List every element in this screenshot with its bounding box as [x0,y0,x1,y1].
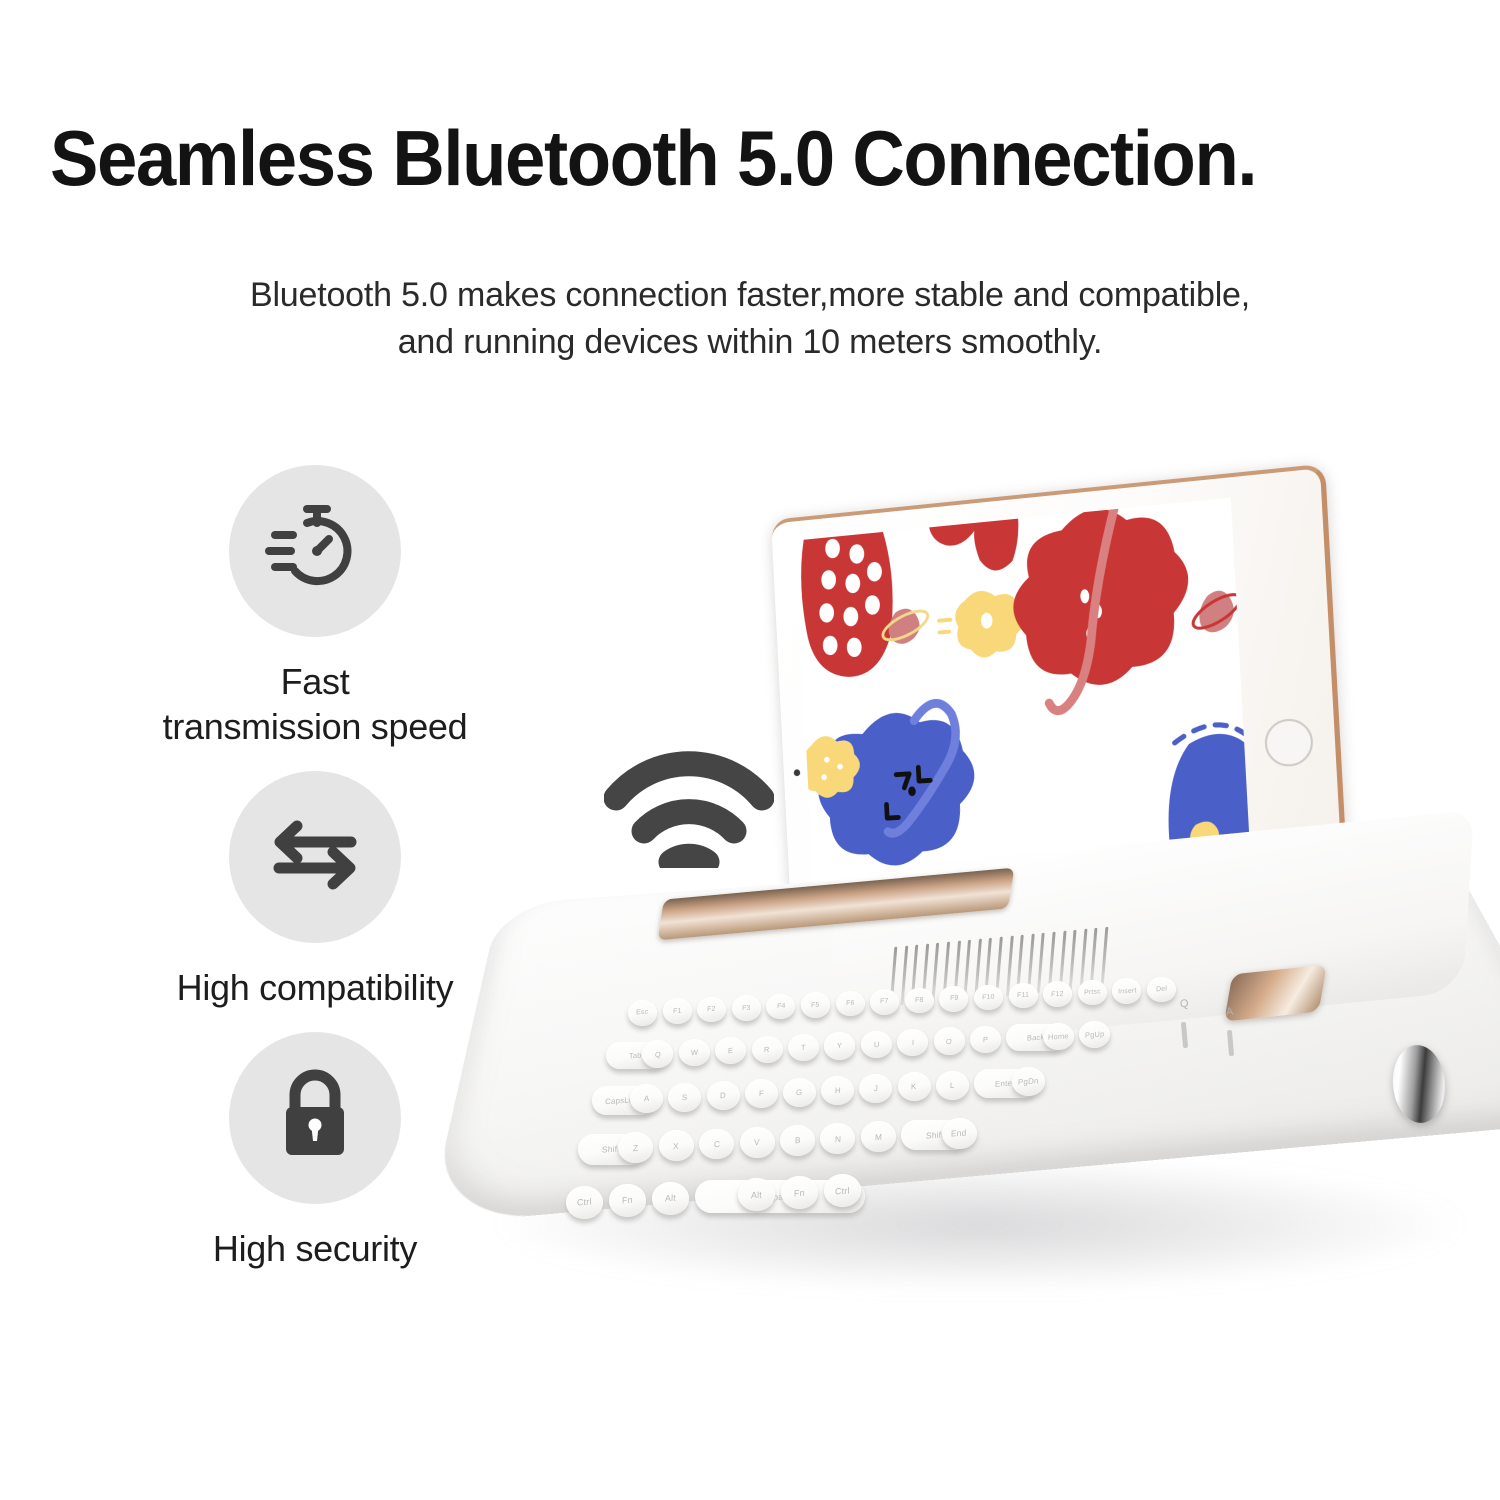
keycap-label: S [682,1092,688,1101]
keycap-alt[interactable]: Alt [652,1182,689,1215]
keycap-i[interactable]: I [897,1029,928,1056]
keycap-u[interactable]: U [861,1031,892,1058]
keycap-l[interactable]: L [936,1071,969,1100]
keycap-label: F9 [950,995,959,1003]
keycap-t[interactable]: T [788,1034,819,1061]
keycap-label: Alt [665,1193,676,1204]
keycap-label: Ctrl [835,1185,850,1196]
keycap-v[interactable]: V [740,1127,775,1158]
keycap-x[interactable]: X [659,1130,694,1161]
keycap-label: Z [633,1142,639,1152]
keycap-label: Alt [751,1189,762,1200]
keycap-label: Esc [636,1009,648,1017]
keycap-label: F10 [982,993,995,1001]
keycap-label: P [983,1035,988,1044]
keycap-label: V [754,1137,760,1147]
keycap-label: E [728,1046,733,1055]
keycap-label: N [835,1133,842,1143]
product-marketing-page: Seamless Bluetooth 5.0 Connection. Bluet… [0,0,1500,1500]
keycap-f1[interactable]: F1 [663,998,692,1024]
keycap-pgup[interactable]: PgUp [1079,1021,1110,1048]
keycap-label: PgUp [1085,1029,1105,1039]
keycap-label: Prtsc [1084,988,1101,996]
keycap-h[interactable]: H [821,1076,854,1105]
keycap-label: Shift [925,1129,943,1140]
keycap-insert[interactable]: Insert [1112,978,1141,1004]
keycap-label: U [873,1040,879,1049]
keycap-f8[interactable]: F8 [905,988,934,1014]
keycap-label: F1 [673,1007,682,1015]
keycap-label: Fn [794,1187,805,1198]
keycap-e[interactable]: E [715,1037,746,1064]
keycap-n[interactable]: N [820,1123,855,1154]
keycap-label: I [911,1038,914,1047]
keycap-fn[interactable]: Fn [781,1176,818,1209]
keycap-label: B [794,1135,800,1145]
keycap-f11[interactable]: F11 [1009,983,1038,1009]
keycap-z[interactable]: Z [618,1132,653,1163]
keycap-pgdn[interactable]: PgDn [1012,1067,1045,1096]
keycap-f9[interactable]: F9 [939,986,968,1012]
keycap-y[interactable]: Y [824,1032,855,1059]
keycap-j[interactable]: J [859,1074,892,1103]
keycap-ctrl[interactable]: Ctrl [566,1186,603,1219]
keycap-f4[interactable]: F4 [766,994,795,1020]
keycap-label: PgDn [1018,1077,1039,1087]
keycap-label: Q [655,1049,661,1058]
keycap-label: Tab [629,1051,642,1061]
keycap-label: D [720,1091,726,1100]
keycap-label: F12 [1051,990,1064,998]
keycap-label: F8 [915,997,924,1005]
keycap-label: F3 [742,1004,751,1012]
keycap-label: A [644,1094,650,1103]
keycap-end[interactable]: End [942,1118,977,1149]
keycap-label: T [801,1043,806,1052]
keycap-label: Del [1156,986,1167,994]
keycap-ctrl[interactable]: Ctrl [824,1174,861,1207]
keycap-k[interactable]: K [898,1072,931,1101]
keycap-f12[interactable]: F12 [1043,981,1072,1007]
keycap-label: F [759,1089,764,1098]
keycap-label: F7 [880,998,889,1006]
keycap-label: X [673,1141,679,1151]
keycap-del[interactable]: Del [1147,977,1176,1003]
keycap-label: G [796,1087,803,1096]
keycap-label: O [946,1036,952,1045]
keycap-f2[interactable]: F2 [697,997,726,1023]
keycap-label: M [875,1132,883,1143]
keycap-label: J [874,1084,878,1093]
keycap-fn[interactable]: Fn [609,1184,646,1217]
keycap-label: F4 [777,1003,786,1011]
keycap-label: Y [837,1041,842,1050]
keycap-label: Insert [1117,987,1136,995]
keycap-alt[interactable]: Alt [738,1178,775,1211]
keycap-label: W [691,1048,699,1058]
keycap-f7[interactable]: F7 [870,989,899,1015]
keycap-label: H [835,1086,841,1095]
keycap-label: End [951,1128,967,1139]
keycap-label: K [911,1082,917,1091]
keycap-label: R [764,1044,770,1053]
keycap-d[interactable]: D [707,1081,740,1110]
keycap-prtsc[interactable]: Prtsc [1078,980,1107,1006]
keycap-f10[interactable]: F10 [974,985,1003,1011]
keycap-esc[interactable]: Esc [628,1000,657,1026]
keycap-label: L [950,1081,955,1090]
keycap-a[interactable]: A [630,1084,663,1113]
keycap-f3[interactable]: F3 [732,995,761,1021]
keycap-w[interactable]: W [679,1039,710,1066]
keycap-label: F5 [811,1001,820,1009]
keycap-b[interactable]: B [780,1125,815,1156]
keycap-label: Ctrl [577,1197,592,1208]
keycap-f6[interactable]: F6 [836,991,865,1017]
keycap-g[interactable]: G [783,1078,816,1107]
keycap-o[interactable]: O [934,1027,965,1054]
keycap-f[interactable]: F [745,1079,778,1108]
keycap-p[interactable]: P [970,1026,1001,1053]
keycap-s[interactable]: S [668,1083,701,1112]
keycap-home[interactable]: Home [1043,1023,1074,1050]
keycap-f5[interactable]: F5 [801,992,830,1018]
keycap-label: F2 [707,1006,716,1014]
keycap-r[interactable]: R [752,1036,783,1063]
keyboard-keys: EscF1F2F3F4F5F6F7F8F9F10F11F12PrtscInser… [0,0,1500,1500]
keycap-q[interactable]: Q [642,1040,673,1067]
keycap-label: C [713,1139,720,1149]
keycap-label: F6 [846,1000,855,1008]
keycap-label: Home [1048,1031,1069,1041]
keycap-c[interactable]: C [699,1129,734,1160]
keycap-label: Back [1027,1033,1045,1043]
keycap-m[interactable]: M [861,1121,896,1152]
keycap-label: Fn [622,1195,633,1206]
keycap-label: F11 [1017,992,1029,1000]
